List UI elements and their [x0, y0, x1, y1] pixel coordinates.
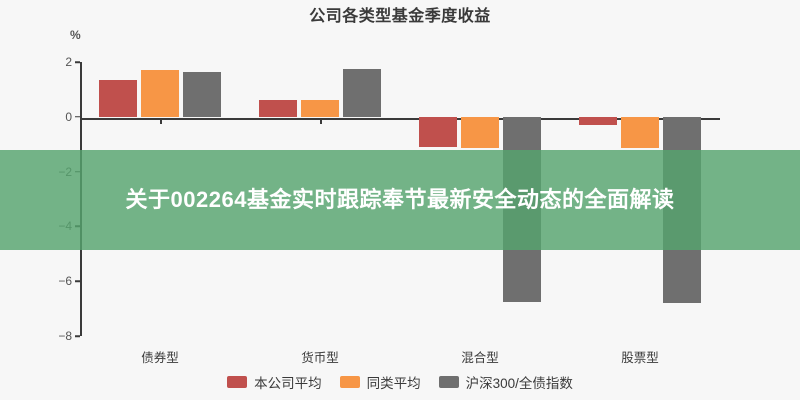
bar-混合型-本公司平均	[419, 117, 457, 147]
y-tick-label: 0	[42, 110, 72, 124]
bar-债券型-本公司平均	[99, 80, 137, 117]
bar-混合型-同类平均	[461, 117, 499, 149]
bar-股票型-同类平均	[621, 117, 659, 149]
y-tick-mark	[75, 116, 80, 118]
overlay-banner: 关于002264基金实时跟踪奉节最新安全动态的全面解读	[0, 150, 800, 250]
x-tick-label: 债券型	[90, 347, 230, 366]
x-tick-mark	[320, 118, 322, 124]
y-tick-label: −8	[42, 329, 72, 343]
legend-swatch-icon	[340, 376, 360, 388]
chart-legend: 本公司平均同类平均沪深300/全债指数	[0, 372, 800, 392]
bar-债券型-沪深300/全债指数	[183, 72, 221, 117]
legend-swatch-icon	[439, 376, 459, 388]
legend-swatch-icon	[227, 376, 247, 388]
y-axis-unit-label: %	[70, 28, 81, 42]
legend-label: 沪深300/全债指数	[466, 372, 573, 392]
legend-item-沪深300/全债指数[interactable]: 沪深300/全债指数	[439, 372, 573, 392]
overlay-banner-text: 关于002264基金实时跟踪奉节最新安全动态的全面解读	[126, 184, 675, 216]
x-tick-label: 货币型	[250, 347, 390, 366]
x-tick-label: 股票型	[570, 347, 710, 366]
bar-债券型-同类平均	[141, 70, 179, 117]
bar-货币型-沪深300/全债指数	[343, 69, 381, 117]
legend-label: 同类平均	[367, 372, 421, 392]
y-tick-mark	[75, 335, 80, 337]
chart-title: 公司各类型基金季度收益	[0, 2, 800, 26]
chart-page: 公司各类型基金季度收益 % 20−2−4−6−8 债券型货币型混合型股票型 本公…	[0, 0, 800, 400]
x-tick-mark	[160, 118, 162, 124]
y-tick-mark	[75, 61, 80, 63]
y-tick-label: 2	[42, 55, 72, 69]
legend-item-本公司平均[interactable]: 本公司平均	[227, 372, 322, 392]
y-tick-label: −6	[42, 274, 72, 288]
bar-货币型-本公司平均	[259, 100, 297, 116]
x-tick-label: 混合型	[410, 347, 550, 366]
bar-货币型-同类平均	[301, 100, 339, 116]
y-tick-mark	[75, 280, 80, 282]
legend-item-同类平均[interactable]: 同类平均	[340, 372, 421, 392]
legend-label: 本公司平均	[254, 372, 322, 392]
bar-股票型-本公司平均	[579, 117, 617, 125]
